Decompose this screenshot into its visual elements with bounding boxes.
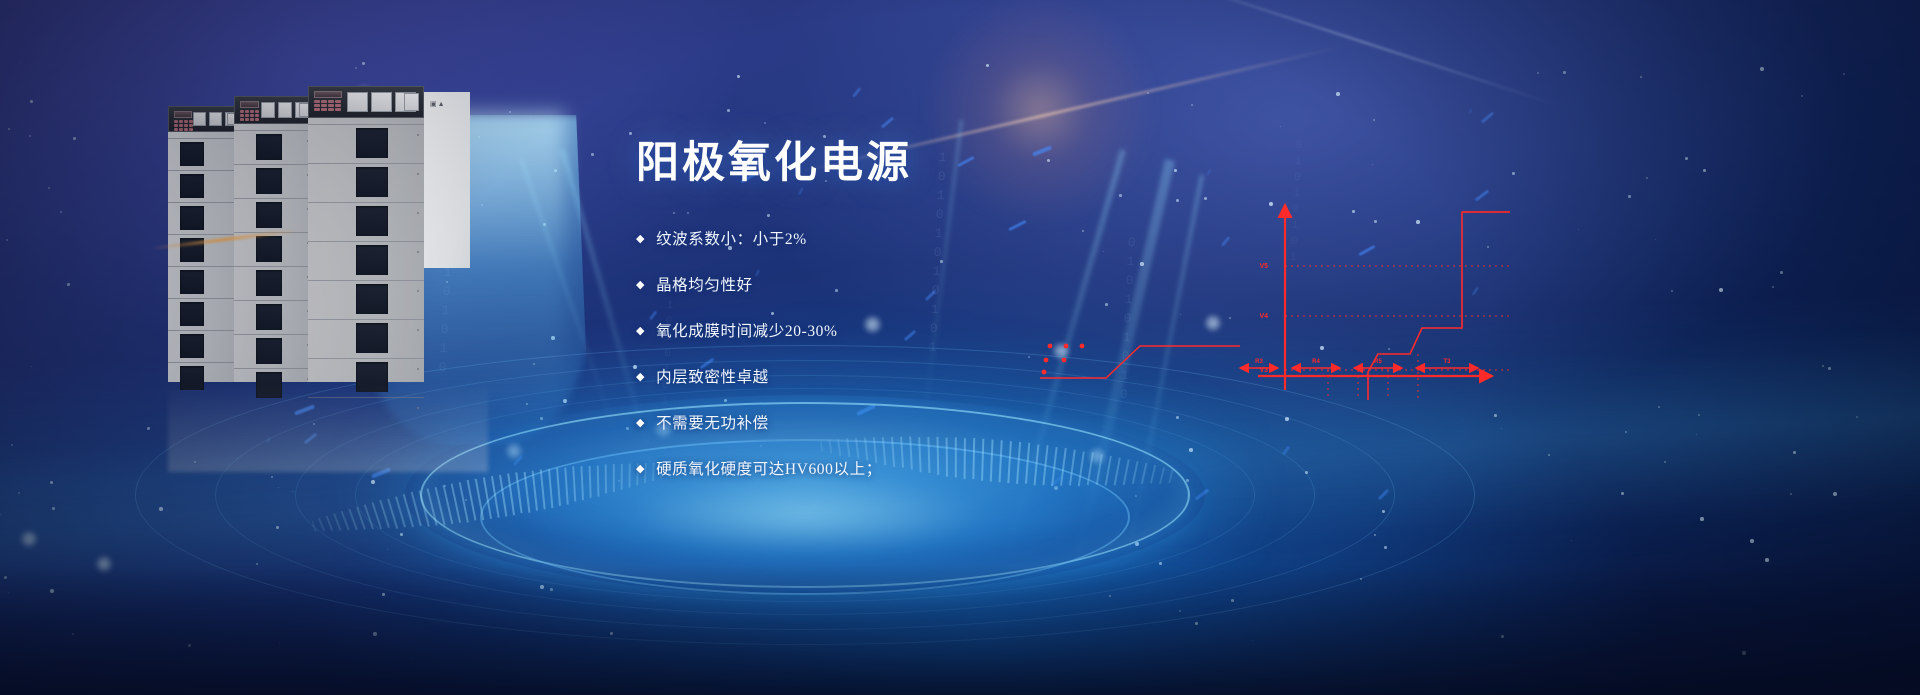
particle: [52, 507, 55, 510]
podium-tick: [605, 465, 607, 494]
particle: [19, 62, 20, 63]
cabinet-screw: [417, 251, 419, 253]
cabinet-vent-panel: [356, 128, 388, 158]
cabinet-screw: [417, 173, 419, 175]
cabinet-vent-panel: [256, 236, 282, 262]
control-panel-display: [314, 91, 342, 98]
particle: [1843, 73, 1845, 75]
cabinet-control-panel: [308, 86, 424, 118]
technical-waveform-diagram: V5 V4 V3 R3 R4 R5 T3: [1010, 150, 1510, 400]
podium-tick: [341, 511, 350, 530]
cabinet-panel-seam: [168, 170, 242, 171]
particle: [1698, 414, 1700, 416]
cabinet-control-panel: [234, 96, 314, 124]
cabinet-panel-seam: [234, 130, 314, 131]
particle: [1336, 92, 1340, 96]
scatter-points: [1042, 344, 1085, 375]
cabinet-panel-seam: [234, 300, 314, 301]
light-streak: [1481, 112, 1494, 124]
cabinet-screw: [417, 368, 419, 370]
particle: [629, 132, 632, 135]
diamond-bullet-icon: ◆: [636, 280, 645, 291]
cabinet-panel-seam: [308, 241, 424, 242]
dim-label-r4: R4: [1312, 359, 1320, 365]
particle: [1772, 286, 1774, 288]
particle: [1671, 290, 1673, 292]
particle: [1537, 72, 1539, 74]
particle: [48, 187, 50, 189]
particle: [355, 67, 357, 69]
feature-bullet-label: 硬质氧化硬度可达HV600以上；: [656, 457, 882, 479]
cabinet-screw: [417, 290, 419, 292]
cabinet-vent-panel: [256, 270, 282, 296]
feature-bullet: ◆硬质氧化硬度可达HV600以上；: [636, 457, 1156, 479]
light-streak: [852, 87, 861, 97]
podium-tick: [475, 479, 485, 521]
feature-bullet-label: 晶格均匀性好: [656, 273, 753, 295]
cabinet-panel-seam: [234, 266, 314, 267]
cabinet-panel-seam: [168, 266, 242, 267]
particle: [1760, 67, 1764, 71]
particle: [1765, 558, 1769, 562]
cabinet-screw: [417, 134, 419, 136]
particle: [1780, 271, 1783, 274]
podium-tick: [325, 515, 333, 531]
particle: [823, 135, 826, 138]
cabinet-panel-seam: [234, 198, 314, 199]
cabinet-panel-seam: [308, 124, 424, 125]
podium-tick: [628, 464, 630, 488]
podium-tick: [507, 474, 515, 516]
cabinet-control-panel: [168, 106, 242, 132]
cabinet-panel-seam: [308, 319, 424, 320]
particle: [1703, 169, 1706, 172]
cabinet-side-face: [424, 92, 470, 268]
feature-bullet-label: 不需要无功补偿: [656, 411, 769, 433]
particle: [1664, 461, 1666, 463]
podium-tick: [491, 476, 500, 518]
equipment-cabinet-2: [234, 96, 314, 382]
particle: [8, 128, 10, 130]
cabinet-screw: [417, 329, 419, 331]
particle: [1685, 157, 1688, 160]
light-streak: [1469, 108, 1473, 113]
particle: [764, 122, 766, 124]
cabinet-panel-seam: [168, 298, 242, 299]
equipment-cabinet-3: [308, 86, 424, 382]
cabinet-vent-panel: [256, 168, 282, 194]
cabinet-vent-panel: [180, 270, 204, 294]
control-panel-breaker[interactable]: [404, 93, 419, 111]
podium-tick: [524, 471, 531, 512]
podium-tick: [613, 464, 615, 492]
cabinet-logo-mark: ▣▲: [430, 100, 446, 108]
cabinet-vent-panel: [356, 206, 388, 236]
feature-bullet-label: 纹波系数小：小于2%: [656, 227, 807, 249]
podium-tick: [1159, 467, 1165, 484]
particle: [1828, 367, 1831, 370]
particle: [1373, 119, 1375, 121]
particle: [1801, 95, 1803, 97]
staircase-waveform: [1368, 212, 1510, 400]
particle: [1790, 493, 1792, 495]
podium-tick: [467, 480, 477, 521]
cabinet-vent-panel: [180, 174, 204, 198]
particle: [73, 137, 76, 140]
particle: [1191, 104, 1193, 106]
cabinet-vent-panel: [180, 142, 204, 166]
cabinet-panel-seam: [308, 358, 424, 359]
cabinet-vent-panel: [356, 284, 388, 314]
particle: [1719, 288, 1723, 292]
podium-tick: [572, 467, 576, 502]
podium-tick: [1168, 469, 1173, 483]
control-panel-label-card: [209, 112, 222, 126]
cabinet-vent-panel: [356, 323, 388, 353]
dim-label-r3: R3: [1255, 359, 1263, 365]
particle: [30, 100, 33, 103]
particle: [1628, 195, 1631, 198]
particle: [1280, 126, 1281, 127]
podium-tick: [540, 470, 546, 510]
particle: [727, 109, 730, 112]
cabinet-vent-panel: [256, 338, 282, 364]
control-panel-label-card: [371, 92, 392, 112]
particle: [1578, 229, 1579, 230]
particle: [1494, 414, 1497, 417]
y-tick-v3: V3: [1259, 367, 1268, 374]
particle: [1646, 177, 1648, 179]
control-panel-display: [174, 111, 192, 118]
particle: [6, 239, 8, 241]
cabinet-panel-seam: [308, 163, 424, 164]
podium-tick: [333, 513, 341, 531]
podium-tick: [556, 468, 561, 506]
particle: [1833, 492, 1837, 496]
particle: [1512, 172, 1515, 175]
particle: [591, 153, 594, 156]
particle: [1563, 71, 1566, 74]
particle: [362, 62, 365, 65]
control-panel-display: [240, 101, 259, 108]
cabinet-panel-seam: [168, 330, 242, 331]
particle: [18, 492, 20, 494]
diamond-bullet-icon: ◆: [636, 418, 645, 429]
particle: [29, 135, 31, 137]
y-tick-v4: V4: [1259, 313, 1268, 320]
podium-tick: [318, 518, 325, 532]
cabinet-panel-seam: [168, 138, 242, 139]
particle: [1856, 416, 1858, 418]
podium-tick: [348, 509, 357, 530]
podium-tick: [597, 465, 600, 496]
cabinet-reflection: [168, 382, 488, 472]
bottom-fade: [0, 565, 1920, 695]
cabinet-vent-panel: [256, 304, 282, 330]
particle: [1655, 239, 1656, 240]
podium-tick: [532, 471, 538, 511]
diamond-bullet-icon: ◆: [636, 326, 645, 337]
podium-tick: [580, 466, 584, 500]
particle: [1640, 76, 1642, 78]
particle: [1147, 92, 1149, 94]
particle: [737, 75, 740, 78]
banner-root: 0101010101010101010101010101010101010101…: [0, 0, 1920, 695]
gridlines: [1285, 266, 1510, 400]
diamond-bullet-icon: ◆: [636, 234, 645, 245]
control-panel-keypad[interactable]: [314, 100, 341, 111]
y-tick-v5: V5: [1259, 263, 1268, 270]
cabinet-vent-panel: [256, 134, 282, 160]
cabinet-panel-seam: [308, 280, 424, 281]
control-panel-label-card: [278, 102, 292, 118]
dim-label-r5: R5: [1374, 359, 1382, 365]
control-panel-label-card: [347, 92, 368, 112]
lens-flare-streak-secondary: [1160, 0, 1560, 107]
cabinet-vent-panel: [180, 206, 204, 230]
particle: [60, 211, 62, 213]
cabinet-vent-panel: [356, 245, 388, 275]
podium-tick: [483, 477, 492, 519]
cabinet-vent-panel: [356, 167, 388, 197]
ramp-line: [1040, 346, 1240, 378]
cabinet-panel-seam: [234, 334, 314, 335]
particle: [11, 444, 13, 446]
particle: [1700, 517, 1704, 521]
waveform-svg: V5 V4 V3 R3 R4 R5 T3: [1010, 150, 1510, 400]
cabinet-vent-panel: [180, 302, 204, 326]
cabinet-vent-panel: [180, 334, 204, 358]
cabinet-panel-seam: [234, 368, 314, 369]
feature-bullet-label: 内层致密性卓越: [656, 365, 769, 387]
equipment-cabinets: ▣▲: [168, 82, 488, 382]
particle: [1621, 492, 1624, 495]
particle: [1658, 406, 1660, 408]
podium-tick: [548, 469, 553, 508]
feature-bullet: ◆不需要无功补偿: [636, 411, 1156, 433]
cabinet-panel-seam: [168, 362, 242, 363]
cabinet-panel-seam: [234, 164, 314, 165]
diamond-bullet-icon: ◆: [636, 464, 645, 475]
control-panel-label-card: [261, 102, 275, 118]
podium-tick: [515, 473, 522, 514]
cabinet-panel-seam: [168, 234, 242, 235]
podium-tick: [499, 475, 507, 517]
podium-tick: [564, 467, 568, 504]
cabinet-screw: [417, 212, 419, 214]
cabinet-panel-seam: [308, 202, 424, 203]
cabinet-vent-panel: [256, 202, 282, 228]
dim-label-t3: T3: [1443, 359, 1451, 365]
podium-tick: [589, 466, 592, 498]
podium-tick: [356, 507, 366, 530]
cabinet-panel-seam: [168, 202, 242, 203]
podium-tick: [621, 464, 623, 490]
control-panel-keypad[interactable]: [174, 120, 193, 131]
control-panel-label-card: [193, 112, 206, 126]
feature-bullet-label: 氧化成膜时间减少20-30%: [656, 319, 837, 341]
light-streak: [881, 117, 894, 129]
control-panel-keypad[interactable]: [240, 110, 259, 121]
particle: [1750, 539, 1754, 543]
particle: [67, 283, 70, 286]
diamond-bullet-icon: ◆: [636, 372, 645, 383]
